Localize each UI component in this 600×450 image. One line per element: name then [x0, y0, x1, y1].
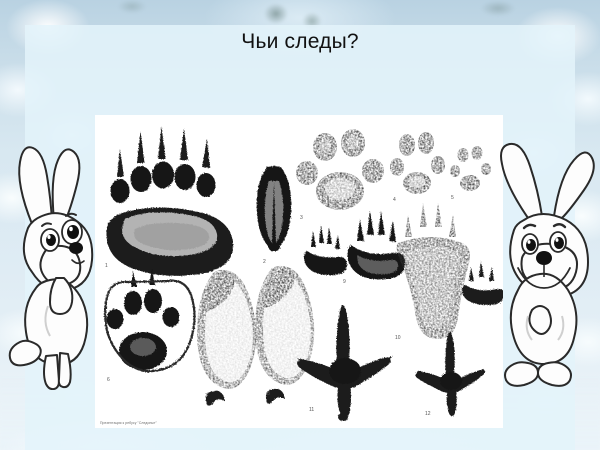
svg-text:12: 12 [425, 411, 431, 417]
svg-text:5: 5 [451, 195, 454, 201]
svg-text:9: 9 [343, 279, 346, 285]
svg-text:2: 2 [263, 259, 266, 265]
svg-text:11: 11 [309, 407, 314, 413]
thinking-rabbit-drawing [2, 128, 110, 390]
animal-tracks-image: 1 2 3 [95, 115, 503, 428]
smiling-rabbit [492, 134, 598, 390]
svg-text:10: 10 [395, 335, 401, 341]
animal-tracks-drawing: 1 2 3 [95, 115, 503, 428]
svg-text:3: 3 [300, 215, 303, 221]
svg-text:7: 7 [205, 393, 208, 399]
page-title: Чьи следы? [0, 30, 600, 54]
svg-text:8: 8 [267, 391, 270, 397]
tracks-image-caption: Презентация к ребусу "Следопыт" [100, 421, 157, 425]
smiling-rabbit-drawing [492, 134, 598, 390]
slide: Чьи следы? [0, 0, 600, 450]
thinking-rabbit [2, 128, 110, 390]
svg-text:4: 4 [393, 197, 396, 203]
